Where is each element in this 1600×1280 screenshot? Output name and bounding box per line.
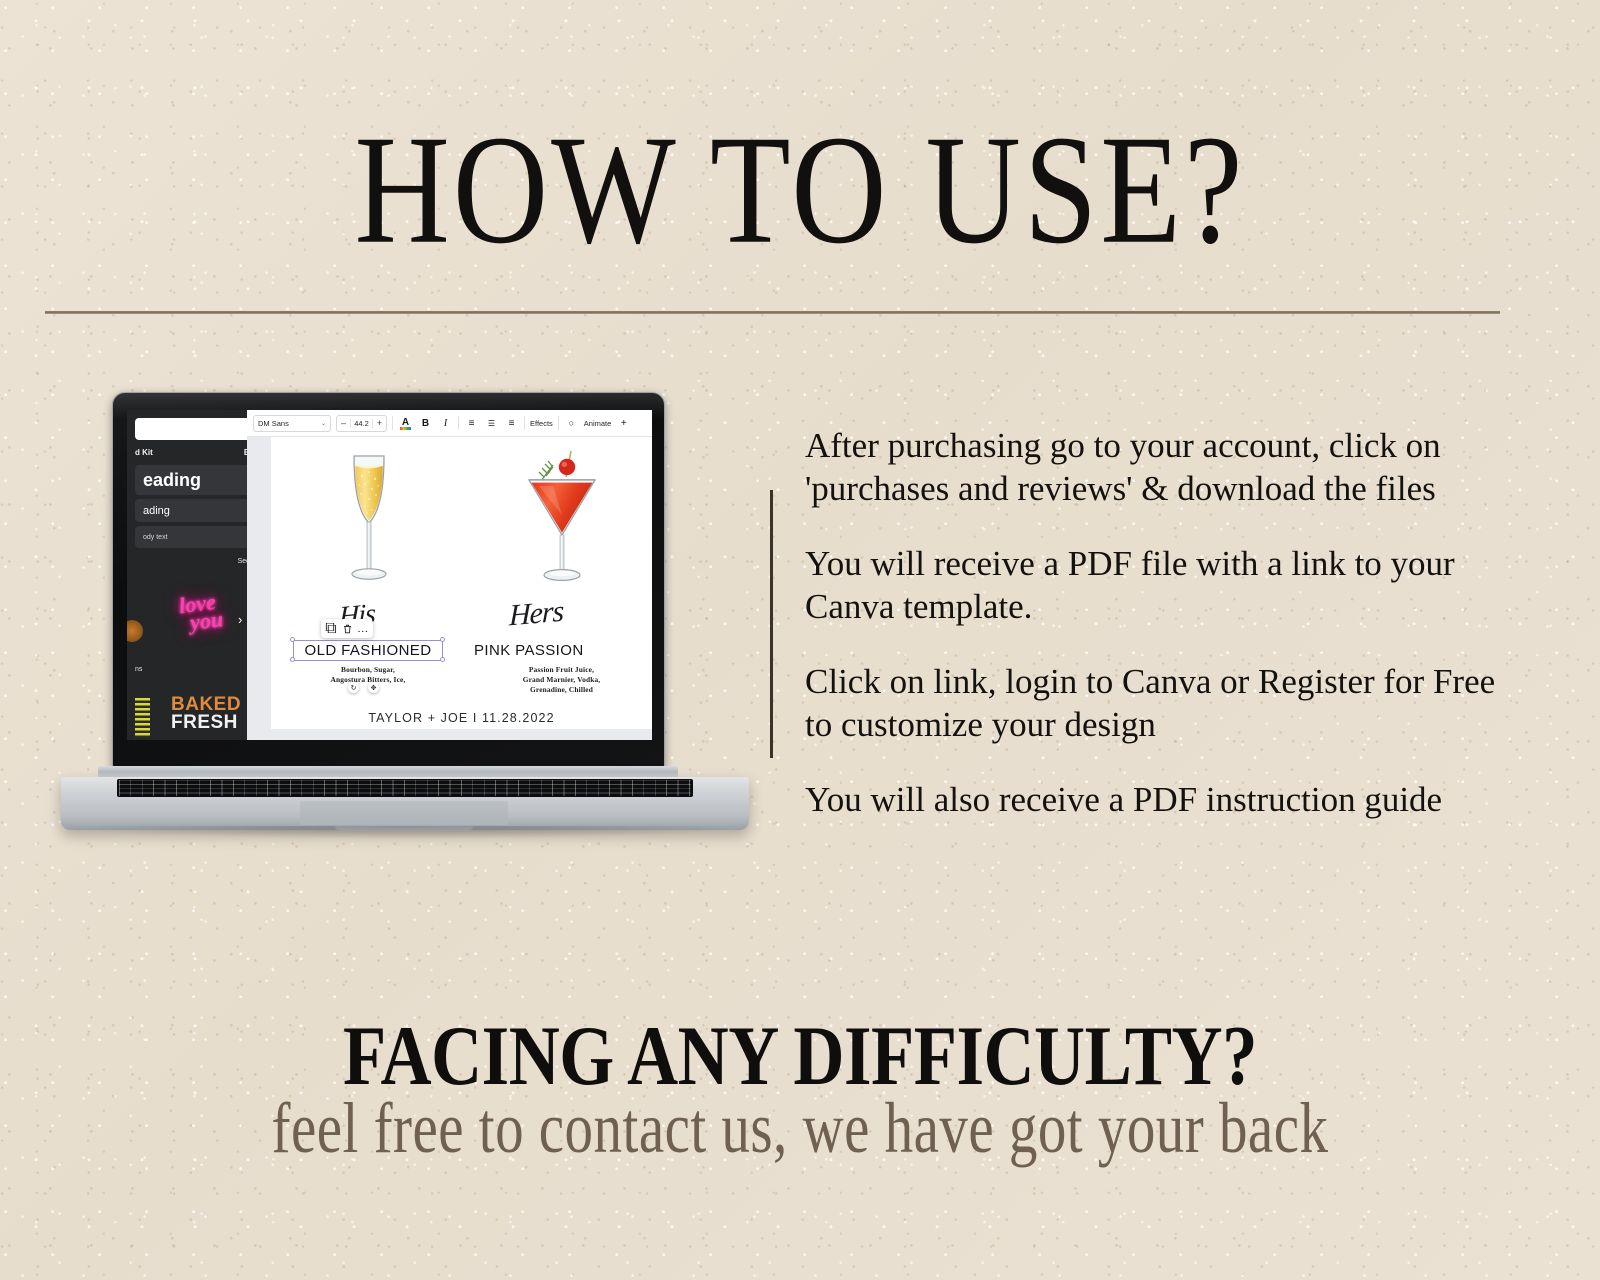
laptop-drop-shadow (55, 826, 755, 839)
rotate-handle-icon[interactable]: ↻ (348, 682, 359, 693)
animate-icon[interactable]: ○ (564, 416, 579, 431)
color-swatch-bar (400, 427, 411, 430)
style-body-text-item[interactable]: ody text (135, 526, 247, 548)
footer-subtitle: feel free to contact us, we have got you… (40, 1092, 1560, 1164)
keyboard-keys (119, 780, 691, 796)
drink-right-title[interactable]: PINK PASSION (474, 642, 649, 659)
selection-handle-bl[interactable] (290, 657, 295, 662)
title-divider-rule (45, 311, 1500, 314)
canva-workspace: His Hers ⧉ … (247, 437, 652, 740)
laptop-keyboard (117, 779, 693, 797)
canva-text-toolbar: DM Sans ⌄ – 44.2 + A B I (247, 410, 652, 437)
striped-graphic (135, 698, 150, 738)
orange-thumbnail-blob[interactable] (127, 620, 143, 642)
selection-handle-br[interactable] (440, 657, 445, 662)
toolbar-overflow-icon[interactable]: + (616, 416, 631, 431)
drink-left-title[interactable]: OLD FASHIONED (293, 640, 443, 661)
see-all-link[interactable]: See all (135, 558, 247, 565)
font-family-value: DM Sans (258, 419, 289, 428)
style-heading-item[interactable]: eading (135, 465, 247, 495)
baked-line-2: FRESH (171, 714, 241, 732)
text-color-icon[interactable]: A (398, 416, 413, 431)
laptop-trackpad (300, 801, 508, 825)
bold-icon[interactable]: B (418, 416, 433, 431)
font-size-value[interactable]: 44.2 (350, 419, 373, 428)
instruction-step-2: You will receive a PDF file with a link … (805, 542, 1525, 628)
selection-handle-tl[interactable] (290, 637, 295, 642)
couple-date-line[interactable]: TAYLOR + JOE I 11.28.2022 (271, 711, 652, 725)
font-size-decrease-button[interactable]: – (337, 418, 350, 428)
chevron-down-icon: ⌄ (321, 420, 326, 427)
selection-handle-tr[interactable] (440, 637, 445, 642)
instructions-list: After purchasing go to your account, cli… (805, 424, 1525, 821)
page-title: HOW TO USE? (0, 112, 1600, 268)
chevron-right-icon[interactable]: › (238, 612, 242, 627)
instruction-step-3: Click on link, login to Canva or Registe… (805, 660, 1525, 746)
duplicate-icon[interactable]: ⧉ (326, 624, 336, 634)
bullet-list-icon[interactable]: ☰ (484, 416, 499, 431)
effects-button[interactable]: Effects (530, 419, 553, 428)
line-spacing-icon[interactable]: ≡ (504, 416, 519, 431)
instruction-step-1: After purchasing go to your account, cli… (805, 424, 1525, 510)
toolbar-separator (524, 416, 525, 430)
more-options-icon[interactable]: … (358, 624, 368, 634)
toolbar-separator (458, 416, 459, 430)
drink-left-desc-line-2: Angostura Bitters, Ice, (293, 675, 443, 685)
baked-fresh-graphic[interactable]: BAKED FRESH (171, 696, 241, 732)
toolbar-separator (392, 416, 393, 430)
text-align-icon[interactable]: ≡ (464, 416, 479, 431)
laptop-mockup: d Kit Edit eading ading ody text See all… (55, 392, 755, 842)
drink-right-desc-line-1: Passion Fruit Juice, (474, 665, 649, 675)
drink-right-desc-line-3: Grenadine, Chilled (474, 685, 649, 695)
vertical-divider (770, 490, 773, 758)
brand-kit-label: d Kit (135, 448, 153, 457)
laptop-screen: d Kit Edit eading ading ody text See all… (127, 410, 652, 740)
trash-icon[interactable] (342, 624, 352, 634)
canva-side-panel: d Kit Edit eading ading ody text See all… (127, 410, 247, 740)
drink-right-desc-line-2: Grand Marnier, Vodka, (474, 675, 649, 685)
instruction-step-4: You will also receive a PDF instruction … (805, 778, 1525, 821)
toolbar-separator (558, 416, 559, 430)
neon-love-you-graphic[interactable]: love you (173, 592, 224, 634)
font-size-increase-button[interactable]: + (373, 418, 386, 428)
drink-right-description: Passion Fruit Juice, Grand Marnier, Vodk… (474, 665, 649, 694)
drink-left-description: Bourbon, Sugar, Angostura Bitters, Ice, (293, 665, 443, 685)
how-to-use-page: HOW TO USE? d Kit Edit eading ading ody … (0, 0, 1600, 1280)
footer-title: FACING ANY DIFFICULTY? (56, 1013, 1544, 1098)
neon-line-2: you (189, 610, 224, 632)
panel-search-input[interactable] (135, 418, 247, 440)
italic-icon[interactable]: I (438, 416, 453, 431)
animate-button[interactable]: Animate (584, 419, 612, 428)
font-size-stepper[interactable]: – 44.2 + (336, 415, 387, 432)
pink-passion-cocktail-illustration[interactable] (519, 443, 605, 593)
panel-items-label: ns (135, 666, 142, 673)
champagne-glass-illustration[interactable] (338, 450, 400, 590)
hers-script-label[interactable]: Hers (509, 595, 564, 634)
canva-design-page[interactable]: His Hers ⧉ … (271, 437, 652, 729)
brand-kit-row: d Kit Edit (135, 448, 247, 457)
move-handle-icon[interactable]: ✥ (368, 682, 379, 693)
drink-left-desc-line-1: Bourbon, Sugar, (293, 665, 443, 675)
laptop-lid: d Kit Edit eading ading ody text See all… (112, 392, 665, 769)
style-subheading-item[interactable]: ading (135, 499, 247, 522)
object-floating-toolbar: ⧉ … (321, 619, 373, 638)
font-family-select[interactable]: DM Sans ⌄ (253, 415, 331, 432)
